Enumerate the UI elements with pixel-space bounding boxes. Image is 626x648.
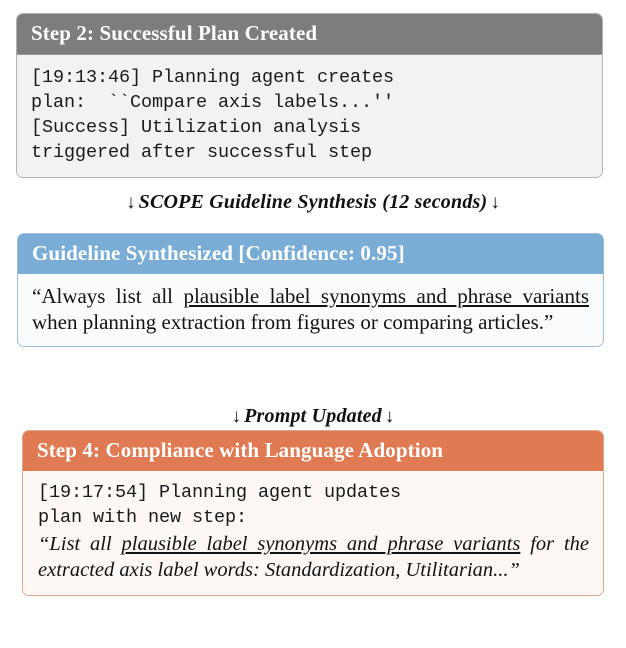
connector-guideline-synthesis: ↓SCOPE Guideline Synthesis (12 seconds)↓	[0, 191, 626, 214]
down-arrow-icon: ↓	[487, 192, 503, 213]
step-4-log-line-2: plan with new step:	[38, 507, 247, 528]
down-arrow-icon: ↓	[382, 406, 398, 427]
card-guideline-body: “Always list all plausible label synonym…	[18, 274, 603, 346]
step-2-log-text: [19:13:46] Planning agent creates plan: …	[31, 65, 588, 165]
card-step-2-body: [19:13:46] Planning agent creates plan: …	[17, 55, 602, 177]
guideline-quote-close: when planning extraction from figures or…	[32, 310, 553, 334]
step-4-log-text: [19:17:54] Planning agent updates plan w…	[38, 480, 589, 530]
card-step-4: Step 4: Compliance with Language Adoptio…	[22, 430, 604, 596]
step-4-quote: “List all plausible label synonyms and p…	[38, 531, 589, 583]
guideline-quote-open: “Always list all	[32, 284, 183, 308]
down-arrow-icon: ↓	[123, 192, 139, 213]
card-guideline-header: Guideline Synthesized [Confidence: 0.95]	[18, 234, 603, 274]
step-4-log-line-1: [19:17:54] Planning agent updates	[38, 482, 401, 503]
card-step-2: Step 2: Successful Plan Created [19:13:4…	[16, 13, 603, 178]
card-step-4-header: Step 4: Compliance with Language Adoptio…	[23, 431, 603, 471]
guideline-quote: “Always list all plausible label synonym…	[32, 283, 589, 335]
scope-pipeline-figure: Step 2: Successful Plan Created [19:13:4…	[0, 0, 626, 648]
connector-label-synthesis: SCOPE Guideline Synthesis (12 seconds)	[139, 191, 488, 213]
down-arrow-icon: ↓	[229, 406, 245, 427]
step-4-quote-open: “List all	[38, 533, 122, 555]
step-4-quote-underlined: plausible label synonyms and phrase vari…	[122, 533, 521, 555]
card-guideline-synthesized: Guideline Synthesized [Confidence: 0.95]…	[17, 233, 604, 347]
card-step-2-header: Step 2: Successful Plan Created	[17, 14, 602, 55]
connector-prompt-updated: ↓Prompt Updated↓	[0, 405, 626, 428]
connector-label-prompt: Prompt Updated	[244, 405, 382, 427]
guideline-quote-underlined: plausible label synonyms and phrase vari…	[183, 284, 589, 308]
card-step-4-body: [19:17:54] Planning agent updates plan w…	[23, 471, 603, 595]
